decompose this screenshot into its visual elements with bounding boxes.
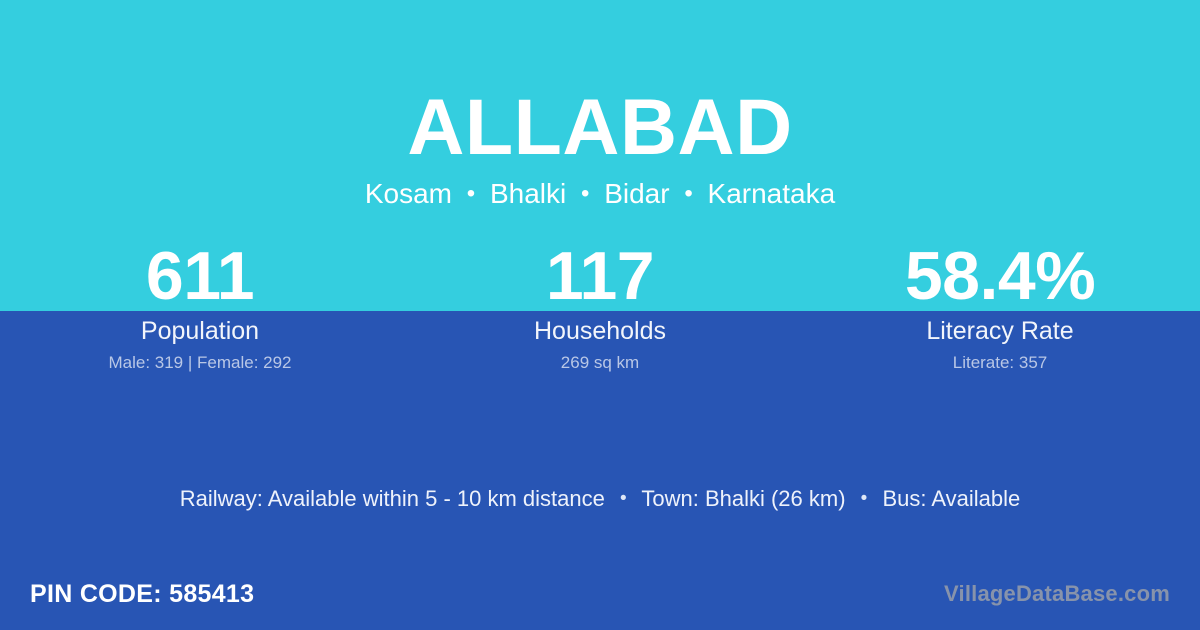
amenity-separator-icon: •	[852, 484, 877, 514]
stat-households: 117 Households 269 sq km	[400, 240, 800, 374]
breadcrumb-separator-icon: •	[460, 177, 482, 211]
header: ALLABAD Kosam • Bhalki • Bidar • Karnata…	[0, 0, 1200, 211]
stat-label: Households	[400, 316, 800, 346]
pin-code: PIN CODE: 585413	[30, 579, 254, 609]
stat-label: Literacy Rate	[800, 316, 1200, 346]
amenities-line: Railway: Available within 5 - 10 km dist…	[0, 484, 1200, 514]
village-info-card: ALLABAD Kosam • Bhalki • Bidar • Karnata…	[0, 0, 1200, 630]
amenity-separator-icon: •	[611, 484, 636, 514]
breadcrumb-item-state: Karnataka	[708, 178, 836, 209]
breadcrumb-item-taluk: Bhalki	[490, 178, 566, 209]
stats-row: 611 Population Male: 319 | Female: 292 1…	[0, 240, 1200, 374]
stat-literacy-rate: 58.4% Literacy Rate Literate: 357	[800, 240, 1200, 374]
breadcrumb-item-village: Kosam	[365, 178, 452, 209]
breadcrumb-separator-icon: •	[677, 177, 699, 211]
breadcrumb: Kosam • Bhalki • Bidar • Karnataka	[0, 172, 1200, 211]
stat-value: 58.4%	[800, 240, 1200, 312]
breadcrumb-item-district: Bidar	[604, 178, 669, 209]
footer: PIN CODE: 585413 VillageDataBase.com	[0, 558, 1200, 630]
site-watermark: VillageDataBase.com	[944, 581, 1170, 607]
stat-population: 611 Population Male: 319 | Female: 292	[0, 240, 400, 374]
amenity-bus: Bus: Available	[882, 486, 1020, 511]
page-title: ALLABAD	[0, 0, 1200, 172]
stat-value: 611	[0, 240, 400, 312]
stat-detail: 269 sq km	[400, 352, 800, 374]
stat-detail: Male: 319 | Female: 292	[0, 352, 400, 374]
amenity-town: Town: Bhalki (26 km)	[641, 486, 845, 511]
stat-value: 117	[400, 240, 800, 312]
stat-label: Population	[0, 316, 400, 346]
amenity-railway: Railway: Available within 5 - 10 km dist…	[180, 486, 605, 511]
breadcrumb-separator-icon: •	[574, 177, 596, 211]
stat-detail: Literate: 357	[800, 352, 1200, 374]
